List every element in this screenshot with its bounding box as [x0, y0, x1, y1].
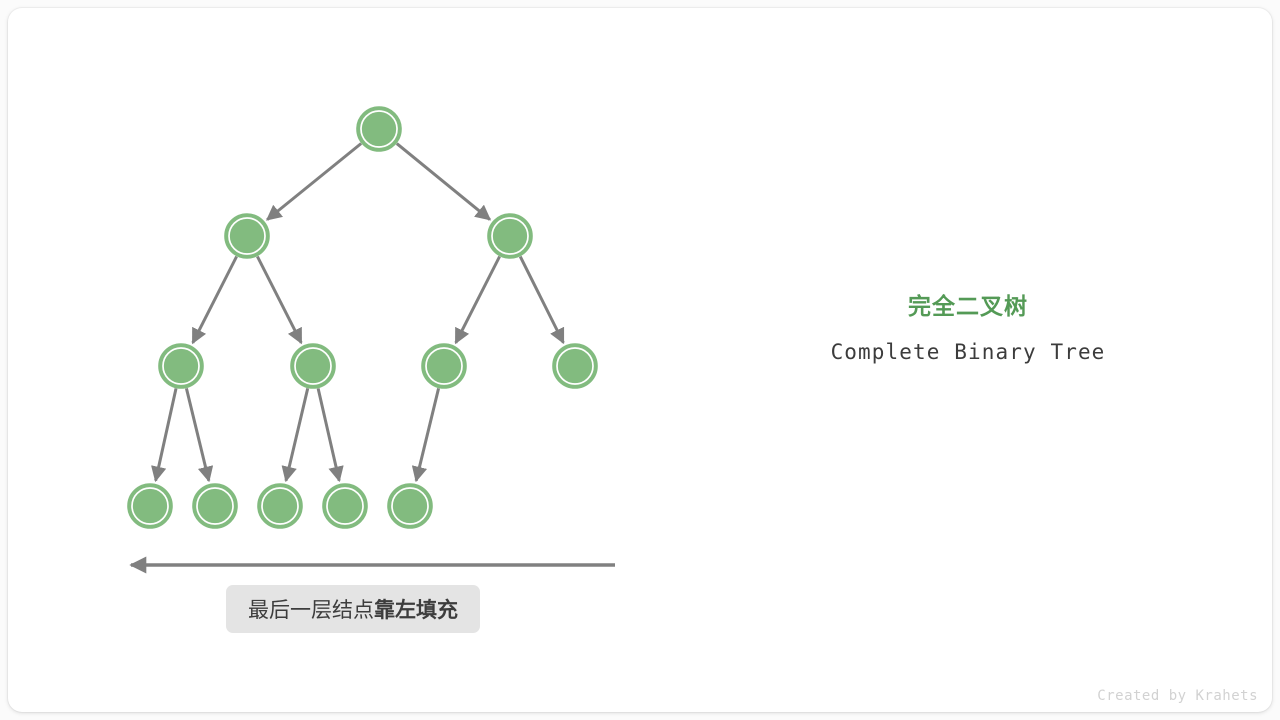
legend-block: 完全二叉树 Complete Binary Tree	[760, 292, 1176, 365]
tree-node	[388, 484, 432, 528]
credit-text: Created by Krahets	[1097, 688, 1258, 704]
tree-node	[357, 107, 401, 151]
tree-edge	[520, 257, 563, 343]
tree-edge-layer	[156, 143, 564, 480]
tree-node	[553, 344, 597, 388]
caption-text-normal: 最后一层结点	[248, 594, 374, 624]
tree-edge	[257, 257, 301, 343]
tree-edge	[397, 144, 490, 220]
tree-node	[193, 484, 237, 528]
tree-node	[488, 214, 532, 258]
tree-node-inner-ring	[426, 348, 462, 384]
tree-node-inner-ring	[163, 348, 199, 384]
tree-edge	[456, 257, 500, 343]
tree-node-inner-ring	[229, 218, 265, 254]
tree-node	[225, 214, 269, 258]
tree-edge	[156, 388, 176, 480]
tree-node-inner-ring	[262, 488, 298, 524]
tree-node-inner-ring	[492, 218, 528, 254]
tree-node-inner-ring	[361, 111, 397, 147]
tree-edge	[193, 257, 237, 343]
tree-node-inner-ring	[327, 488, 363, 524]
tree-node	[128, 484, 172, 528]
tree-node	[291, 344, 335, 388]
tree-node-layer	[128, 107, 597, 528]
tree-node-inner-ring	[557, 348, 593, 384]
tree-node	[323, 484, 367, 528]
diagram-canvas: 完全二叉树 Complete Binary Tree 最后一层结点靠左填充 Cr…	[0, 0, 1280, 720]
legend-title: 完全二叉树	[760, 292, 1176, 321]
tree-node-inner-ring	[197, 488, 233, 524]
tree-edge	[267, 143, 361, 219]
caption-chip: 最后一层结点靠左填充	[226, 585, 480, 633]
tree-node	[159, 344, 203, 388]
tree-edge	[286, 388, 308, 480]
tree-node-inner-ring	[295, 348, 331, 384]
tree-edge	[318, 388, 339, 480]
tree-node	[258, 484, 302, 528]
tree-node-inner-ring	[392, 488, 428, 524]
tree-node-inner-ring	[132, 488, 168, 524]
tree-edge	[186, 388, 208, 480]
caption-text-emphasis: 靠左填充	[374, 594, 458, 624]
tree-edge	[416, 388, 438, 480]
tree-node	[422, 344, 466, 388]
legend-subtitle: Complete Binary Tree	[760, 339, 1176, 365]
